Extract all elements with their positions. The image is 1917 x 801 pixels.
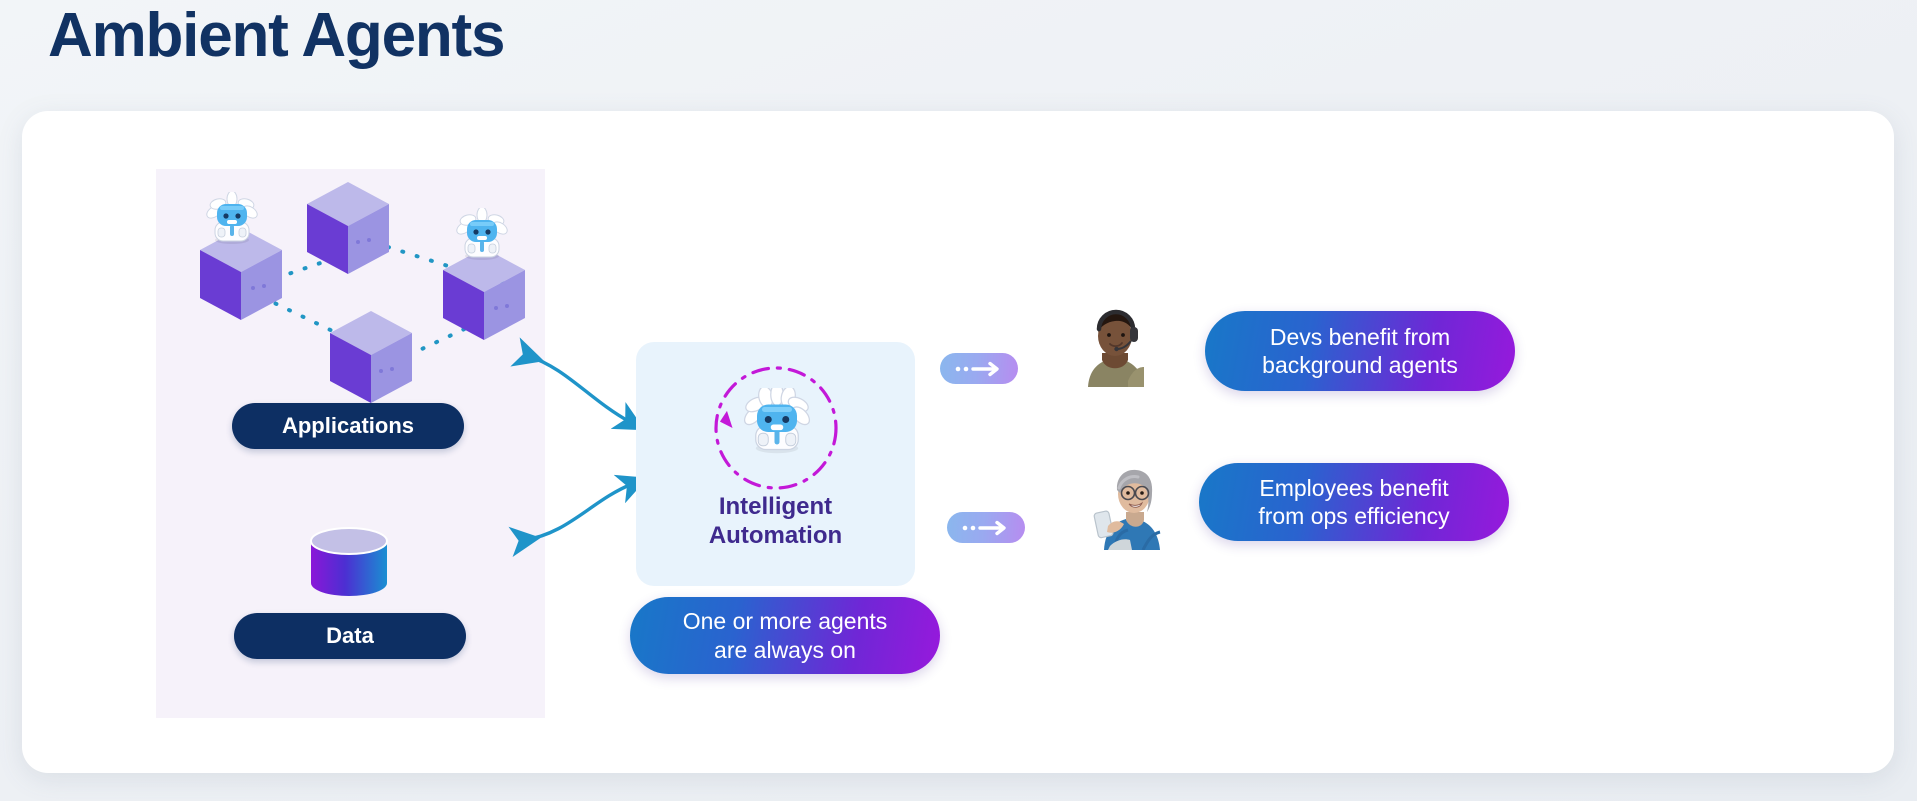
- dotted-arrow-right-icon: [947, 512, 1025, 543]
- support-agent-with-headset-photo: [1072, 305, 1158, 387]
- always-on-pill[interactable]: One or more agents are always on: [630, 597, 940, 674]
- employees-benefit-pill[interactable]: Employees benefit from ops efficiency: [1199, 463, 1509, 541]
- applications-pill[interactable]: Applications: [232, 403, 464, 449]
- dashed-orbit-icon: [708, 360, 844, 496]
- agent-mascot-icon: [742, 388, 812, 456]
- devs-benefit-line1: Devs benefit from: [1262, 323, 1458, 351]
- employees-benefit-line2: from ops efficiency: [1258, 502, 1449, 530]
- page-title: Ambient Agents: [48, 2, 504, 70]
- devs-benefit-pill[interactable]: Devs benefit from background agents: [1205, 311, 1515, 391]
- employee-with-phone-photo: [1086, 460, 1172, 550]
- devs-benefit-line2: background agents: [1262, 351, 1458, 379]
- intelligent-automation-label: Intelligent Automation: [636, 492, 915, 551]
- automation-label-line2: Automation: [636, 521, 915, 550]
- slide-root: Ambient Agents: [0, 0, 1917, 801]
- data-pill[interactable]: Data: [234, 613, 466, 659]
- automation-label-line1: Intelligent: [636, 492, 915, 521]
- intelligent-automation-card[interactable]: Intelligent Automation: [636, 342, 915, 586]
- agent-mascot-icon: [204, 192, 260, 246]
- always-on-line2: are always on: [683, 636, 888, 664]
- employees-benefit-line1: Employees benefit: [1258, 474, 1449, 502]
- always-on-line1: One or more agents: [683, 607, 888, 635]
- database-cylinder-icon: [307, 525, 391, 601]
- agent-mascot-icon: [454, 208, 510, 262]
- dotted-arrow-right-icon: [940, 353, 1018, 384]
